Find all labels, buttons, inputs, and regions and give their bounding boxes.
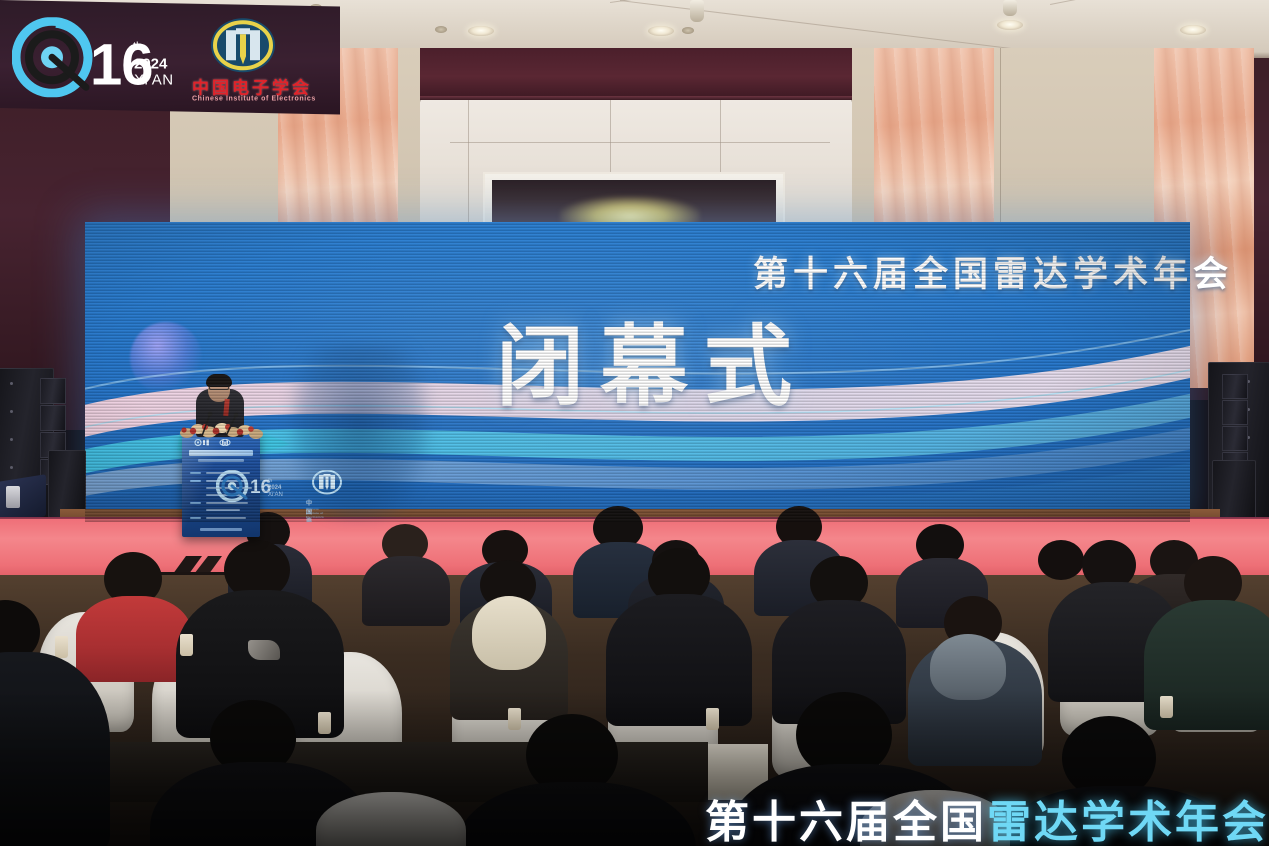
screen-logo-ordinal: th bbox=[268, 478, 272, 484]
screen-cie-english: Chinese Institute of Electronics bbox=[306, 507, 324, 519]
pa-subwoofer-left bbox=[48, 450, 86, 518]
screenshot-root: 16 th 2024 Xi'AN 中国电子学会 Chinese Institut… bbox=[0, 0, 1269, 846]
hood-lining bbox=[472, 596, 546, 670]
water-cup bbox=[706, 708, 719, 730]
screen-headline: 闭幕式 bbox=[496, 296, 808, 423]
podium-subtitle-bar bbox=[198, 459, 244, 462]
pa-line-array-right bbox=[1222, 374, 1248, 399]
speaker-eyeglasses bbox=[209, 385, 229, 390]
banner-ordinal: th bbox=[133, 40, 142, 52]
ceiling-downlight bbox=[997, 20, 1023, 30]
cie-emblem-icon bbox=[210, 17, 276, 77]
overhead-banner: 16 th 2024 Xi'AN 中国电子学会 Chinese Institut… bbox=[0, 0, 340, 115]
pa-line-array-left bbox=[40, 405, 66, 431]
ceiling-downlight bbox=[468, 26, 494, 36]
podium-logo-row bbox=[194, 439, 246, 446]
soffit-band bbox=[398, 48, 874, 100]
screen-logo-city: Xi'AN bbox=[268, 492, 283, 498]
ceiling-sprinkler bbox=[1003, 0, 1017, 16]
radar-conference-ring-icon bbox=[12, 17, 94, 97]
water-cup bbox=[55, 636, 68, 658]
banner-city: Xi'AN bbox=[134, 71, 174, 88]
screen-conference-title: 第十六届全国雷达学术年会 bbox=[753, 246, 1233, 297]
monitor-grille-left bbox=[6, 486, 20, 508]
water-cup bbox=[1160, 696, 1173, 718]
speaker-shadow-on-screen bbox=[290, 345, 430, 520]
screen-ring-logo-icon bbox=[216, 470, 250, 503]
ceiling-downlight bbox=[648, 26, 674, 36]
podium-footer-bar bbox=[200, 528, 242, 531]
ceiling-sprinkler bbox=[690, 0, 704, 22]
screen-logo-year: 2024 bbox=[268, 485, 281, 491]
podium-title-bar bbox=[189, 450, 253, 456]
video-watermark: 第十六届全国雷达学术年会 bbox=[705, 786, 1269, 846]
hood-lining-gray bbox=[930, 634, 1006, 700]
screen-cie-logo-icon bbox=[312, 470, 342, 497]
watermark-cyan-text: 雷达学术年会 bbox=[987, 797, 1269, 846]
ceiling-smoke-detector bbox=[682, 27, 694, 34]
banner-year: 2024 bbox=[134, 55, 167, 72]
pa-line-array-right bbox=[1222, 400, 1248, 425]
water-cup bbox=[508, 708, 521, 730]
ceiling-downlight bbox=[1180, 25, 1206, 35]
water-cup bbox=[318, 712, 331, 734]
jacket-brand-logo-icon bbox=[248, 640, 280, 660]
ceiling-smoke-detector bbox=[435, 26, 447, 33]
pa-line-array-right bbox=[1222, 426, 1248, 451]
water-cup bbox=[180, 634, 193, 656]
watermark-white-text: 第十六届全国 bbox=[705, 797, 987, 846]
pa-line-array-left bbox=[40, 378, 66, 404]
cie-english-name: Chinese Institute of Electronics bbox=[192, 95, 316, 102]
podium-microphones bbox=[196, 410, 250, 436]
